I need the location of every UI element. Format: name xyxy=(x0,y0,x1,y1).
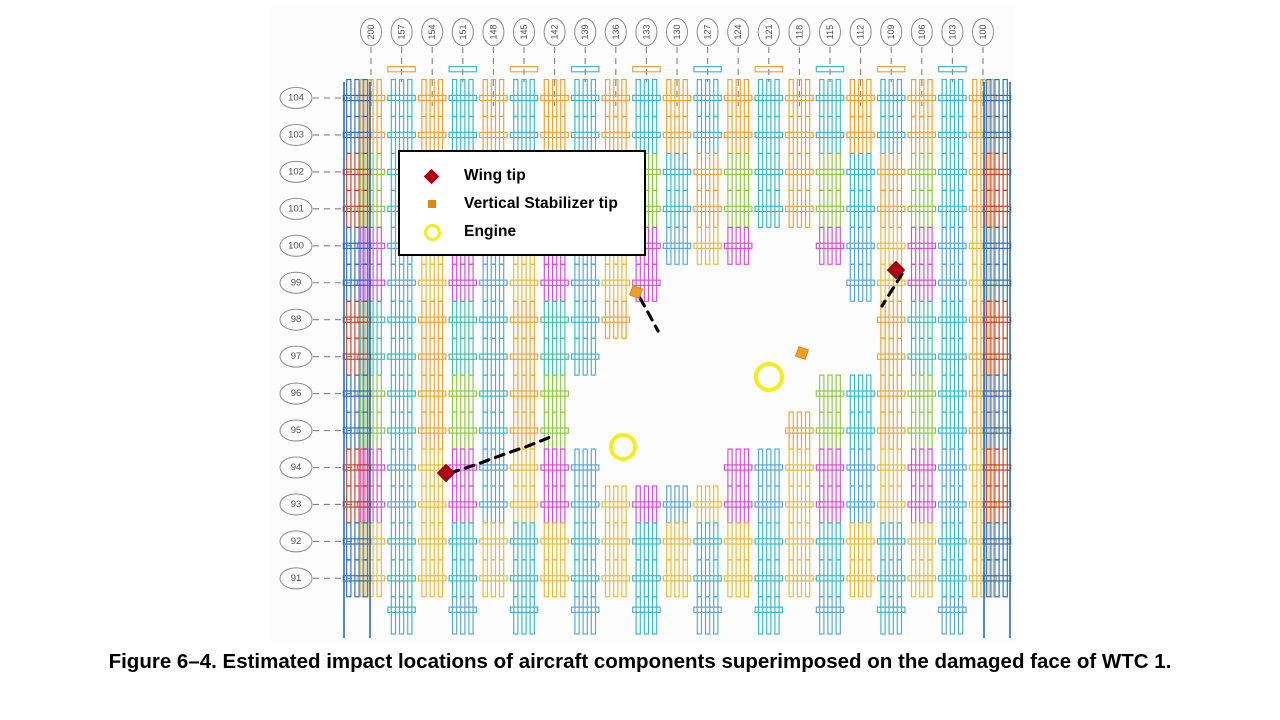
column-bar xyxy=(697,190,701,227)
column-bar xyxy=(561,264,565,301)
column-bar xyxy=(767,80,771,117)
column-bar xyxy=(453,338,457,375)
column-bar xyxy=(920,449,924,486)
column-label-text-154: 154 xyxy=(427,24,437,39)
column-bar xyxy=(461,560,465,597)
column-bar xyxy=(544,523,548,560)
column-bar xyxy=(522,486,526,523)
spandrel-bar xyxy=(633,502,660,507)
column-bar xyxy=(675,486,679,523)
column-bar xyxy=(950,116,954,153)
spandrel-bar xyxy=(572,317,599,322)
caption-line-1: Figure 6–4. Estimated impact locations o… xyxy=(109,650,929,673)
column-bar xyxy=(859,449,863,486)
spandrel-bar xyxy=(449,95,476,100)
column-bar xyxy=(889,338,893,375)
column-bar xyxy=(928,560,932,597)
column-bar xyxy=(430,301,434,338)
column-bar xyxy=(461,597,465,634)
spandrel-bar xyxy=(939,206,966,211)
spandrel-bar xyxy=(388,317,415,322)
column-bar xyxy=(491,264,495,301)
column-bar xyxy=(912,264,916,301)
column-bar xyxy=(644,486,648,523)
column-bar xyxy=(959,80,963,117)
column-bar xyxy=(636,523,640,560)
column-bar xyxy=(491,338,495,375)
column-bar xyxy=(422,338,426,375)
column-bar xyxy=(928,301,932,338)
column-bar xyxy=(667,523,671,560)
column-bar xyxy=(453,523,457,560)
column-bar xyxy=(377,301,381,338)
column-bar xyxy=(408,301,412,338)
column-bar xyxy=(491,375,495,412)
column-bar xyxy=(514,412,518,449)
column-bar xyxy=(561,375,565,412)
column-bar xyxy=(461,412,465,449)
column-bar xyxy=(675,153,679,190)
column-bar xyxy=(530,523,534,560)
column-bar xyxy=(500,375,504,412)
column-bar xyxy=(1003,486,1007,523)
spandrel-bar xyxy=(939,317,966,322)
column-bar xyxy=(897,301,901,338)
column-bar xyxy=(553,264,557,301)
column-label-text-121: 121 xyxy=(764,24,774,39)
column-bar xyxy=(912,338,916,375)
spandrel-bar xyxy=(694,576,721,581)
column-bar xyxy=(469,80,473,117)
column-bar xyxy=(767,523,771,560)
column-bar xyxy=(575,523,579,560)
column-bar xyxy=(714,597,718,634)
column-bar xyxy=(422,412,426,449)
column-bar xyxy=(583,560,587,597)
column-label-154: 154 xyxy=(422,19,443,107)
column-label-103: 103 xyxy=(942,19,963,83)
spandrel-bar xyxy=(939,391,966,396)
column-bar xyxy=(377,264,381,301)
column-bar xyxy=(491,560,495,597)
column-bar xyxy=(683,153,687,190)
column-bar xyxy=(836,486,840,523)
column-bar xyxy=(522,116,526,153)
column-bar xyxy=(453,116,457,153)
column-bar xyxy=(530,116,534,153)
column-bar xyxy=(928,486,932,523)
engine-icon xyxy=(424,224,464,241)
column-bar xyxy=(377,449,381,486)
column-bar xyxy=(759,523,763,560)
column-label-151: 151 xyxy=(452,19,473,83)
column-bar xyxy=(942,375,946,412)
column-bar xyxy=(867,264,871,301)
column-bar xyxy=(775,116,779,153)
column-bar xyxy=(461,116,465,153)
column-bar xyxy=(881,375,885,412)
spandrel-bar xyxy=(388,502,415,507)
column-bar xyxy=(653,190,657,227)
figure-page: 2001571541511481451421391361331301271241… xyxy=(0,0,1280,720)
column-bar xyxy=(881,80,885,117)
column-bar xyxy=(377,227,381,264)
column-bar xyxy=(400,116,404,153)
spandrel-bar xyxy=(725,132,752,137)
spandrel-bar xyxy=(908,576,935,581)
column-bar xyxy=(400,449,404,486)
column-bar xyxy=(461,486,465,523)
column-bar xyxy=(553,412,557,449)
spandrel-bar xyxy=(847,132,874,137)
column-bar xyxy=(850,375,854,412)
spandrel-bar xyxy=(939,132,966,137)
column-bar xyxy=(920,227,924,264)
column-bar xyxy=(759,560,763,597)
column-bar xyxy=(867,375,871,412)
column-bar xyxy=(400,412,404,449)
column-bar xyxy=(789,560,793,597)
spandrel-bar xyxy=(908,206,935,211)
column-bar xyxy=(859,560,863,597)
column-bar xyxy=(522,301,526,338)
column-label-text-133: 133 xyxy=(641,24,651,39)
column-label-133: 133 xyxy=(636,19,657,83)
spandrel-bar xyxy=(419,354,446,359)
column-bar xyxy=(928,227,932,264)
column-bar xyxy=(653,597,657,634)
spandrel-bar xyxy=(449,502,476,507)
spandrel-bar xyxy=(388,391,415,396)
spandrel-bar xyxy=(388,428,415,433)
column-bar xyxy=(767,190,771,227)
wtc1-damage-diagram: 2001571541511481451421391361331301271241… xyxy=(270,6,1015,642)
column-bar xyxy=(706,486,710,523)
column-bar xyxy=(820,523,824,560)
column-bar xyxy=(561,486,565,523)
legend-item-engine: Engine xyxy=(424,218,644,246)
column-bar xyxy=(391,486,395,523)
column-bar xyxy=(714,153,718,190)
column-bar xyxy=(391,449,395,486)
column-bar xyxy=(828,116,832,153)
spandrel-bar xyxy=(878,539,905,544)
spandrel-bar xyxy=(755,607,782,612)
column-bar xyxy=(653,264,657,301)
column-bar xyxy=(522,523,526,560)
spandrel-bar xyxy=(480,465,507,470)
column-bar xyxy=(789,523,793,560)
column-bar xyxy=(850,560,854,597)
column-bar xyxy=(606,560,610,597)
column-bar xyxy=(959,486,963,523)
column-bar xyxy=(675,227,679,264)
spandrel-bar xyxy=(939,354,966,359)
column-bar xyxy=(897,80,901,117)
column-bar xyxy=(820,153,824,190)
column-bar xyxy=(789,116,793,153)
column-bar xyxy=(775,486,779,523)
column-bar xyxy=(859,153,863,190)
column-bar xyxy=(897,597,901,634)
column-bar xyxy=(881,449,885,486)
column-bar xyxy=(859,264,863,301)
spandrel-bar xyxy=(541,539,568,544)
spandrel-bar xyxy=(480,280,507,285)
column-bar xyxy=(583,116,587,153)
column-bar xyxy=(400,80,404,117)
column-bar xyxy=(797,560,801,597)
column-bar xyxy=(614,116,618,153)
column-bar xyxy=(453,449,457,486)
row-label-text-104: 104 xyxy=(288,93,304,104)
row-label-text-101: 101 xyxy=(288,203,304,214)
column-label-text-103: 103 xyxy=(947,24,957,39)
spandrel-bar xyxy=(388,354,415,359)
column-bar xyxy=(438,80,442,117)
column-bar xyxy=(775,80,779,117)
column-bar xyxy=(591,597,595,634)
column-bar xyxy=(881,560,885,597)
column-bar xyxy=(544,412,548,449)
column-bar xyxy=(942,412,946,449)
spandrel-bar xyxy=(694,502,721,507)
column-bar xyxy=(789,412,793,449)
spandrel-bar xyxy=(878,132,905,137)
column-bar xyxy=(453,375,457,412)
column-bar xyxy=(828,560,832,597)
spandrel-bar xyxy=(755,576,782,581)
column-bar xyxy=(881,264,885,301)
column-bar xyxy=(950,338,954,375)
column-bar xyxy=(697,560,701,597)
spandrel-bar xyxy=(510,428,537,433)
column-bar xyxy=(591,264,595,301)
column-bar xyxy=(850,523,854,560)
column-bar xyxy=(973,449,977,486)
column-bar xyxy=(683,190,687,227)
column-bar xyxy=(836,375,840,412)
spandrel-bar xyxy=(541,317,568,322)
column-bar xyxy=(797,153,801,190)
column-bar xyxy=(912,190,916,227)
column-bar xyxy=(591,116,595,153)
column-bar xyxy=(797,523,801,560)
column-bar xyxy=(430,412,434,449)
column-bar xyxy=(920,190,924,227)
column-bar xyxy=(469,264,473,301)
spandrel-bar xyxy=(878,280,905,285)
column-bar xyxy=(675,523,679,560)
column-bar xyxy=(606,486,610,523)
spandrel-bar xyxy=(847,280,874,285)
column-bar xyxy=(820,412,824,449)
column-bar xyxy=(959,597,963,634)
column-bar xyxy=(950,560,954,597)
column-bar xyxy=(828,80,832,117)
column-bar xyxy=(973,190,977,227)
spandrel-bar xyxy=(878,391,905,396)
wing-tip-icon xyxy=(424,171,464,182)
column-bar xyxy=(959,153,963,190)
spandrel-bar xyxy=(449,607,476,612)
column-bar xyxy=(828,597,832,634)
column-bar xyxy=(697,80,701,117)
column-bar xyxy=(867,227,871,264)
column-label-group: 2001571541511481451421391361331301271241… xyxy=(361,19,994,107)
column-bar xyxy=(483,375,487,412)
column-bar xyxy=(728,190,732,227)
impact-marker-group xyxy=(438,262,905,482)
spandrel-bar xyxy=(663,539,690,544)
spandrel-bar xyxy=(449,280,476,285)
column-bar xyxy=(806,116,810,153)
column-bar xyxy=(744,560,748,597)
spandrel-bar xyxy=(939,169,966,174)
column-label-text-112: 112 xyxy=(856,25,866,39)
column-bar xyxy=(889,116,893,153)
column-bar xyxy=(897,153,901,190)
spandrel-bar xyxy=(755,169,782,174)
spandrel-bar xyxy=(663,576,690,581)
column-label-139: 139 xyxy=(575,19,596,83)
column-bar xyxy=(636,80,640,117)
spandrel-bar xyxy=(663,132,690,137)
column-bar xyxy=(714,486,718,523)
column-bar xyxy=(850,80,854,117)
column-bar xyxy=(850,116,854,153)
spandrel-bar xyxy=(572,607,599,612)
column-bar xyxy=(491,116,495,153)
column-bar xyxy=(483,80,487,117)
column-bar xyxy=(469,486,473,523)
spandrel-bar xyxy=(510,280,537,285)
column-bar xyxy=(728,560,732,597)
column-bar xyxy=(920,264,924,301)
figure-caption: Figure 6–4. Estimated impact locations o… xyxy=(60,648,1220,676)
row-label-text-95: 95 xyxy=(291,425,302,436)
column-bar xyxy=(889,412,893,449)
spandrel-bar xyxy=(663,243,690,248)
spandrel-bar xyxy=(816,607,843,612)
column-bar xyxy=(622,523,626,560)
column-bar xyxy=(453,301,457,338)
column-bar xyxy=(622,264,626,301)
column-bar xyxy=(912,227,916,264)
column-bar xyxy=(942,190,946,227)
column-bar xyxy=(959,449,963,486)
spandrel-bar xyxy=(419,428,446,433)
column-bar xyxy=(553,560,557,597)
column-bar xyxy=(889,486,893,523)
spandrel-bar xyxy=(878,243,905,248)
column-bar xyxy=(522,80,526,117)
column-label-text-148: 148 xyxy=(488,24,498,39)
column-bar xyxy=(667,486,671,523)
spandrel-bar xyxy=(908,280,935,285)
column-bar xyxy=(836,80,840,117)
column-bar xyxy=(422,523,426,560)
column-bar xyxy=(859,412,863,449)
spandrel-bar xyxy=(786,502,813,507)
column-bar xyxy=(469,338,473,375)
column-bar xyxy=(430,264,434,301)
column-label-text-106: 106 xyxy=(917,24,927,39)
spandrel-bar xyxy=(725,206,752,211)
column-bar xyxy=(789,80,793,117)
column-bar xyxy=(530,449,534,486)
spandrel-bar xyxy=(939,607,966,612)
column-bar xyxy=(408,449,412,486)
column-bar xyxy=(744,190,748,227)
column-bar xyxy=(522,375,526,412)
column-bar xyxy=(469,116,473,153)
column-bar xyxy=(408,486,412,523)
column-bar xyxy=(667,190,671,227)
spandrel-bar xyxy=(816,95,843,100)
column-bar xyxy=(912,375,916,412)
column-bar xyxy=(1003,190,1007,227)
column-bar xyxy=(1003,301,1007,338)
column-bar xyxy=(575,80,579,117)
column-bar xyxy=(391,375,395,412)
facade-elevation-svg: 2001571541511481451421391361331301271241… xyxy=(270,6,1015,642)
column-label-text-100: 100 xyxy=(978,24,988,39)
column-bar xyxy=(912,301,916,338)
column-bar xyxy=(377,80,381,117)
row-label-text-103: 103 xyxy=(288,129,304,140)
column-bar xyxy=(514,560,518,597)
column-bar xyxy=(806,190,810,227)
stabilizer-left-trajectory xyxy=(640,298,658,331)
column-bar xyxy=(889,375,893,412)
column-bar xyxy=(483,338,487,375)
column-bar xyxy=(483,560,487,597)
column-bar xyxy=(714,116,718,153)
column-bar xyxy=(942,523,946,560)
spandrel-bar xyxy=(572,354,599,359)
spandrel-bar xyxy=(847,428,874,433)
spandrel-bar xyxy=(847,243,874,248)
column-bar xyxy=(500,523,504,560)
column-bar xyxy=(561,338,565,375)
column-bar xyxy=(942,486,946,523)
column-bar xyxy=(881,338,885,375)
spandrel-bar xyxy=(449,391,476,396)
column-bar xyxy=(728,153,732,190)
spandrel-bar xyxy=(602,502,629,507)
column-bar xyxy=(736,116,740,153)
column-label-text-139: 139 xyxy=(580,24,590,39)
column-bar xyxy=(881,486,885,523)
column-bar xyxy=(461,80,465,117)
column-bar xyxy=(583,80,587,117)
column-bar xyxy=(683,486,687,523)
column-bar xyxy=(744,227,748,264)
column-bar xyxy=(644,264,648,301)
column-bar xyxy=(706,597,710,634)
column-bar xyxy=(942,153,946,190)
spandrel-bar xyxy=(572,465,599,470)
column-bar xyxy=(391,153,395,190)
spandrel-bar xyxy=(388,576,415,581)
column-bar xyxy=(950,301,954,338)
spandrel-bar xyxy=(602,539,629,544)
column-bar xyxy=(575,338,579,375)
column-bar xyxy=(912,523,916,560)
column-bar xyxy=(820,190,824,227)
spandrel-bar xyxy=(694,169,721,174)
